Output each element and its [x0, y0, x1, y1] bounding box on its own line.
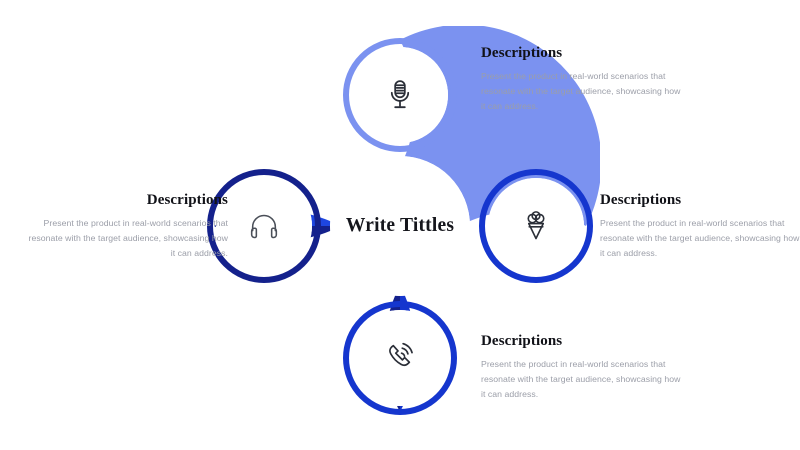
- node-right[interactable]: [488, 178, 584, 274]
- center-hub[interactable]: Write Tittles: [330, 156, 470, 296]
- description-top-title: Descriptions: [481, 45, 681, 62]
- description-bottom-body: Present the product in real-world scenar…: [481, 357, 681, 402]
- description-right: Descriptions Present the product in real…: [600, 192, 800, 261]
- description-left: Descriptions Present the product in real…: [28, 192, 228, 261]
- description-left-title: Descriptions: [28, 192, 228, 209]
- description-right-title: Descriptions: [600, 192, 800, 209]
- ice-cream-cone-icon: [520, 210, 552, 242]
- description-top-body: Present the product in real-world scenar…: [481, 69, 681, 114]
- headphones-icon: [247, 209, 281, 243]
- node-bottom[interactable]: [352, 310, 448, 406]
- description-top: Descriptions Present the product in real…: [481, 45, 681, 114]
- page-title: Write Tittles: [346, 215, 454, 237]
- phone-call-icon: [383, 341, 417, 375]
- description-left-body: Present the product in real-world scenar…: [28, 216, 228, 261]
- description-right-body: Present the product in real-world scenar…: [600, 216, 800, 261]
- microphone-icon: [383, 78, 417, 112]
- description-bottom: Descriptions Present the product in real…: [481, 333, 681, 402]
- description-bottom-title: Descriptions: [481, 333, 681, 350]
- slide-canvas: Write Tittles: [0, 0, 800, 450]
- node-left[interactable]: [216, 178, 312, 274]
- node-top[interactable]: [352, 47, 448, 143]
